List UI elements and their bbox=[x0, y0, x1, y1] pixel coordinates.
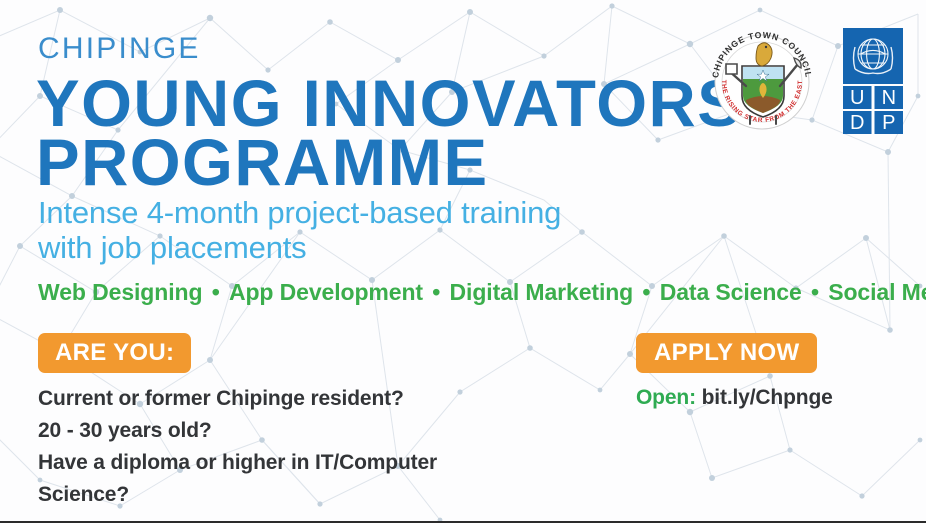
eyebrow-chipinge: CHIPINGE bbox=[38, 34, 201, 64]
criteria-line: Science? bbox=[38, 479, 437, 511]
course-item: App Development bbox=[229, 279, 423, 305]
course-list: Web Designing • App Development • Digita… bbox=[38, 281, 926, 304]
subtitle-line-1: Intense 4-month project-based training bbox=[38, 196, 561, 231]
undp-letter-p: P bbox=[882, 112, 895, 134]
apply-now-button[interactable]: APPLY NOW bbox=[636, 333, 817, 373]
course-separator: • bbox=[802, 279, 829, 305]
eligibility-criteria-list: Current or former Chipinge resident?20 -… bbox=[38, 383, 437, 511]
course-separator: • bbox=[202, 279, 229, 305]
course-separator: • bbox=[633, 279, 660, 305]
course-separator: • bbox=[423, 279, 450, 305]
criteria-line: 20 - 30 years old? bbox=[38, 415, 437, 447]
undp-letter-d: D bbox=[850, 112, 864, 134]
application-url[interactable]: bit.ly/Chpnge bbox=[702, 386, 833, 409]
course-item: Web Designing bbox=[38, 279, 202, 305]
poster-canvas: CHIPINGE YOUNG INNOVATORS PROGRAMME Inte… bbox=[0, 0, 926, 523]
chipinge-town-council-logo: CHIPINGE TOWN COUNCIL THE RISING STAR FR… bbox=[706, 24, 818, 136]
open-label: Open: bbox=[636, 386, 696, 409]
criteria-line: Have a diploma or higher in IT/Computer bbox=[38, 447, 437, 479]
are-you-badge: ARE YOU: bbox=[38, 333, 191, 373]
undp-letter-n: N bbox=[882, 87, 896, 109]
undp-logo: U N D P bbox=[840, 28, 906, 136]
course-item: Data Science bbox=[660, 279, 802, 305]
subtitle: Intense 4-month project-based training w… bbox=[38, 196, 561, 265]
headline-line-2: PROGRAMME bbox=[36, 133, 742, 192]
course-item: Social Media bbox=[828, 279, 926, 305]
subtitle-line-2: with job placements bbox=[38, 231, 561, 266]
undp-letter-u: U bbox=[850, 87, 864, 109]
criteria-line: Current or former Chipinge resident? bbox=[38, 383, 437, 415]
course-item: Digital Marketing bbox=[450, 279, 634, 305]
page-title: YOUNG INNOVATORS PROGRAMME bbox=[36, 74, 742, 193]
application-link[interactable]: Open: bit.ly/Chpnge bbox=[636, 383, 833, 412]
